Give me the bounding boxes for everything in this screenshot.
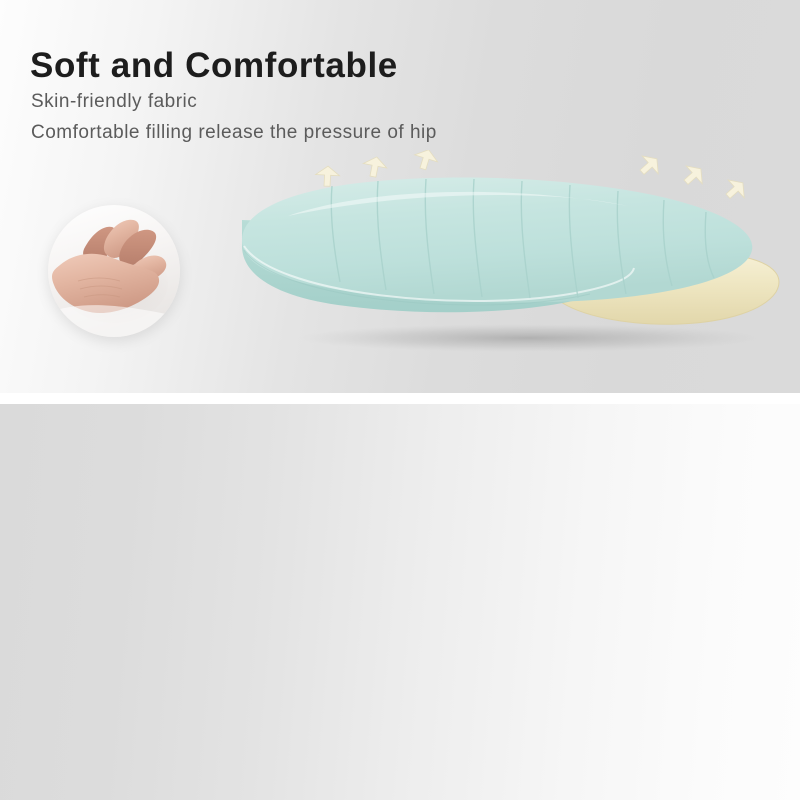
product-feature-image: Soft and Comfortable Skin-friendly fabri… [0, 0, 800, 800]
section-soft-and-comfortable: Soft and Comfortable Skin-friendly fabri… [0, 0, 800, 393]
subtitle-skin-friendly-fabric: Skin-friendly fabric [31, 92, 197, 111]
hand-foam-illustration [48, 205, 180, 337]
subtitle-comfortable-filling: Comfortable filling release the pressure… [31, 123, 437, 142]
hand-pressing-foam-photo [48, 205, 180, 337]
section-divider [0, 393, 800, 404]
section-spacious-ergonomic-backrest: Spacious Ergonomic Backrest Perfectly fi… [0, 404, 800, 800]
seat-cushion-cutaway [228, 150, 788, 380]
seat-cushion-illustration [228, 150, 788, 380]
page-title-soft-comfortable: Soft and Comfortable [30, 48, 398, 83]
